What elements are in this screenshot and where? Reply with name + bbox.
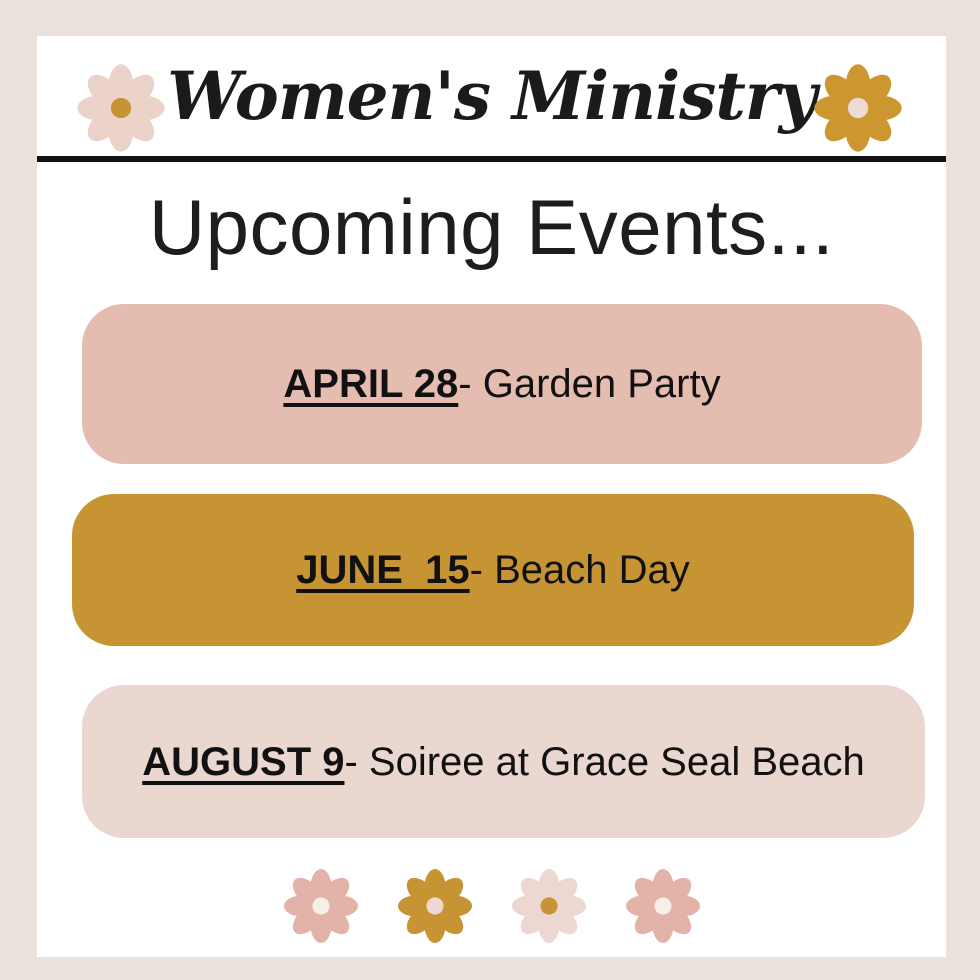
event-banner[interactable]: APRIL 28- Garden Party: [82, 304, 922, 464]
event-description: Soiree at Grace Seal Beach: [369, 740, 865, 784]
flower-icon: [812, 62, 904, 154]
event-date: AUGUST 9: [142, 740, 344, 784]
event-description: Beach Day: [494, 548, 690, 592]
flower-icon: [510, 867, 588, 945]
event-banner-text: JUNE 15- Beach Day: [296, 545, 690, 595]
event-banner[interactable]: AUGUST 9- Soiree at Grace Seal Beach: [82, 685, 925, 838]
event-banner-text: APRIL 28- Garden Party: [283, 359, 720, 409]
header: Women's Ministry: [37, 36, 946, 156]
flower-icon: [282, 867, 360, 945]
event-banner[interactable]: JUNE 15- Beach Day: [72, 494, 914, 646]
event-date: APRIL 28: [283, 362, 458, 406]
header-divider: [37, 156, 946, 162]
event-separator: -: [344, 740, 368, 784]
section-heading: Upcoming Events...: [37, 188, 946, 266]
poster-card: Women's Ministry Upcoming Events... APRI…: [37, 36, 946, 957]
poster-canvas: Women's Ministry Upcoming Events... APRI…: [0, 0, 980, 980]
footer-flower-row: [37, 851, 946, 957]
event-banner-text: AUGUST 9- Soiree at Grace Seal Beach: [142, 737, 865, 787]
page-title: Women's Ministry: [37, 36, 946, 156]
flower-icon: [396, 867, 474, 945]
event-description: Garden Party: [483, 362, 721, 406]
flower-icon: [624, 867, 702, 945]
event-separator: -: [470, 548, 494, 592]
event-separator: -: [458, 362, 482, 406]
event-date: JUNE 15: [296, 548, 469, 592]
